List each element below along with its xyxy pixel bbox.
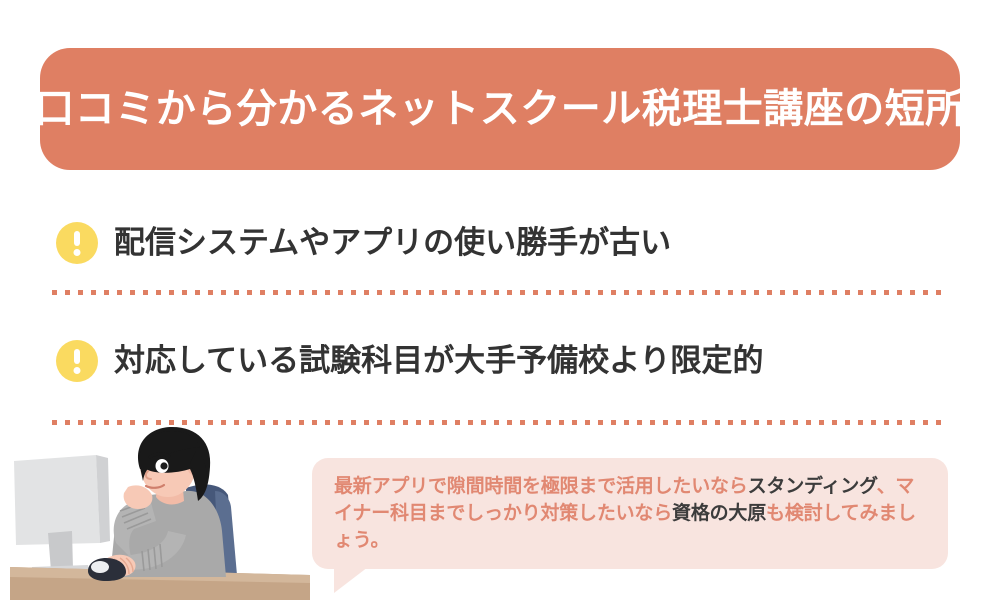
bullet-item-2: 対応している試験科目が大手予備校より限定的 [56, 340, 946, 382]
bullet-item-2-label: 対応している試験科目が大手予備校より限定的 [114, 342, 763, 381]
speech-bubble: 最新アプリで隙間時間を極限まで活用したいならスタンディング、マイナー科目までしっ… [312, 458, 948, 569]
bullet-item-1-label: 配信システムやアプリの使い勝手が古い [114, 224, 671, 263]
header-banner: 口コミから分かるネットスクール税理士講座の短所 [40, 48, 960, 170]
infographic-page: 口コミから分かるネットスクール税理士講座の短所 配信システムやアプリの使い勝手が… [0, 0, 1000, 600]
bubble-segment-1: 最新アプリで隙間時間を極限まで活用したいなら [334, 476, 748, 497]
bubble-segment-2-emphasis: スタンディング [748, 476, 877, 497]
exclamation-circle-icon [56, 340, 98, 382]
bullet-item-1: 配信システムやアプリの使い勝手が古い [56, 222, 946, 264]
page-title: 口コミから分かるネットスクール税理士講座の短所 [34, 85, 966, 133]
divider-1 [52, 290, 942, 295]
exclamation-circle-icon [56, 222, 98, 264]
person-at-desk-with-computer-illustration [10, 425, 310, 600]
bubble-segment-4-emphasis: 資格の大原 [672, 503, 766, 524]
speech-bubble-text: 最新アプリで隙間時間を極限まで活用したいならスタンディング、マイナー科目までしっ… [334, 474, 926, 555]
